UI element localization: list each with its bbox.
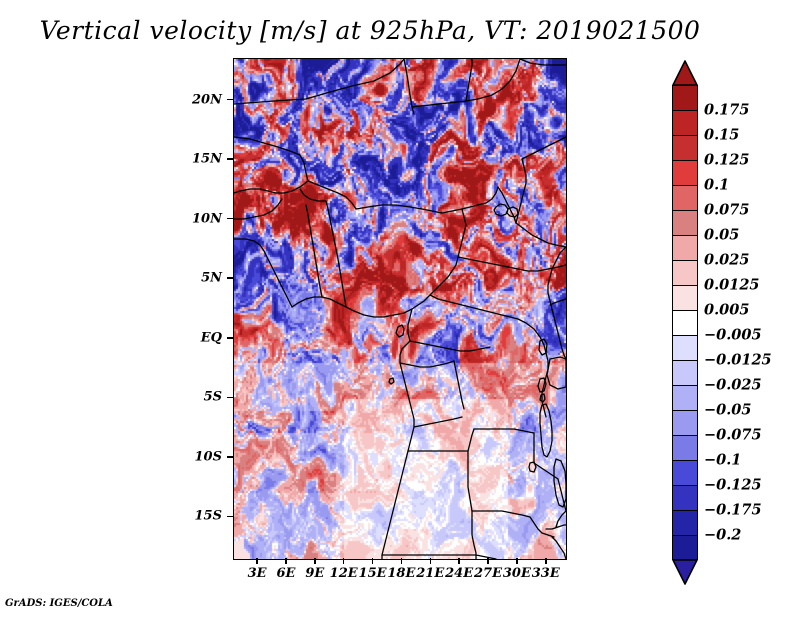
colorbar-tick-label: 0.125 bbox=[704, 152, 749, 169]
x-axis-tick bbox=[401, 558, 403, 564]
x-axis-tick bbox=[430, 558, 432, 564]
colorbar-segment[interactable] bbox=[672, 360, 698, 385]
colorbar-bottom-arrow-icon bbox=[672, 560, 698, 585]
x-axis-tick bbox=[458, 558, 460, 564]
x-axis-label: 6E bbox=[276, 566, 295, 581]
colorbar-tick-label: −0.0125 bbox=[704, 352, 772, 369]
colorbar-segment[interactable] bbox=[672, 410, 698, 435]
colorbar-top-arrow-icon bbox=[672, 60, 698, 85]
colorbar-tick-label: −0.1 bbox=[704, 452, 741, 469]
colorbar-tick-label: 0.1 bbox=[704, 177, 729, 194]
colorbar-segment[interactable] bbox=[672, 185, 698, 210]
x-axis-tick bbox=[545, 558, 547, 564]
page-title: Vertical velocity [m/s] at 925hPa, VT: 2… bbox=[0, 16, 740, 45]
colorbar-tick-label: −0.2 bbox=[704, 527, 741, 544]
colorbar-segment[interactable] bbox=[672, 335, 698, 360]
colorbar-tick-label: −0.125 bbox=[704, 477, 762, 494]
y-axis-label: 15N bbox=[180, 152, 222, 167]
colorbar-segment[interactable] bbox=[672, 460, 698, 485]
colorbar-tick-label: −0.05 bbox=[704, 402, 751, 419]
colorbar-segment[interactable] bbox=[672, 285, 698, 310]
colorbar-tick-label: −0.025 bbox=[704, 377, 762, 394]
grads-credit: GrADS: IGES/COLA bbox=[5, 598, 113, 609]
colorbar-segment[interactable] bbox=[672, 160, 698, 185]
colorbar-tick-label: −0.175 bbox=[704, 502, 762, 519]
x-axis-tick bbox=[487, 558, 489, 564]
x-axis-label: 3E bbox=[248, 566, 267, 581]
x-axis-tick bbox=[256, 558, 258, 564]
colorbar-tick-label: −0.005 bbox=[704, 327, 762, 344]
y-axis-label: EQ bbox=[180, 330, 222, 345]
x-axis-label: 21E bbox=[416, 566, 444, 581]
colorbar-segment[interactable] bbox=[672, 510, 698, 535]
x-axis-label: 18E bbox=[387, 566, 415, 581]
y-axis-tick bbox=[227, 277, 233, 279]
colorbar-tick-label: 0.05 bbox=[704, 227, 739, 244]
y-axis-label: 5S bbox=[180, 390, 222, 405]
y-axis-label: 20N bbox=[180, 92, 222, 107]
colorbar-segment[interactable] bbox=[672, 85, 698, 110]
colorbar-tick-label: 0.175 bbox=[704, 102, 749, 119]
colorbar-segment[interactable] bbox=[672, 485, 698, 510]
y-axis-tick bbox=[227, 456, 233, 458]
colorbar-segment[interactable] bbox=[672, 135, 698, 160]
colorbar-segment[interactable] bbox=[672, 385, 698, 410]
colorbar-tick-label: 0.025 bbox=[704, 252, 749, 269]
colorbar[interactable]: 0.1750.150.1250.10.0750.050.0250.01250.0… bbox=[670, 60, 800, 555]
colorbar-tick-label: −0.075 bbox=[704, 427, 762, 444]
x-axis-label: 15E bbox=[359, 566, 387, 581]
x-axis-label: 24E bbox=[445, 566, 473, 581]
colorbar-tick-label: 0.0125 bbox=[704, 277, 760, 294]
x-axis-tick bbox=[343, 558, 345, 564]
y-axis-tick bbox=[227, 516, 233, 518]
colorbar-segment[interactable] bbox=[672, 110, 698, 135]
y-axis-label: 5N bbox=[180, 271, 222, 286]
x-axis-tick bbox=[314, 558, 316, 564]
colorbar-segment[interactable] bbox=[672, 310, 698, 335]
colorbar-tick-label: 0.15 bbox=[704, 127, 739, 144]
x-axis-label: 33E bbox=[532, 566, 560, 581]
y-axis-label: 10S bbox=[180, 449, 222, 464]
y-axis-tick bbox=[227, 337, 233, 339]
colorbar-tick-label: 0.005 bbox=[704, 302, 749, 319]
x-axis-label: 30E bbox=[503, 566, 531, 581]
x-axis-tick bbox=[285, 558, 287, 564]
y-axis-tick bbox=[227, 158, 233, 160]
y-axis-label: 15S bbox=[180, 509, 222, 524]
x-axis-label: 12E bbox=[330, 566, 358, 581]
y-axis-tick bbox=[227, 397, 233, 399]
map-plot-area[interactable] bbox=[233, 58, 567, 560]
vertical-velocity-heatmap bbox=[234, 59, 566, 559]
colorbar-tick-label: 0.075 bbox=[704, 202, 749, 219]
y-axis-label: 10N bbox=[180, 211, 222, 226]
x-axis-tick bbox=[372, 558, 374, 564]
colorbar-segment[interactable] bbox=[672, 235, 698, 260]
x-axis-label: 27E bbox=[474, 566, 502, 581]
colorbar-segment[interactable] bbox=[672, 535, 698, 560]
colorbar-segments[interactable] bbox=[672, 85, 698, 560]
colorbar-segment[interactable] bbox=[672, 435, 698, 460]
y-axis-tick bbox=[227, 218, 233, 220]
x-axis-label: 9E bbox=[305, 566, 324, 581]
colorbar-segment[interactable] bbox=[672, 210, 698, 235]
y-axis-tick bbox=[227, 99, 233, 101]
colorbar-segment[interactable] bbox=[672, 260, 698, 285]
x-axis-tick bbox=[516, 558, 518, 564]
